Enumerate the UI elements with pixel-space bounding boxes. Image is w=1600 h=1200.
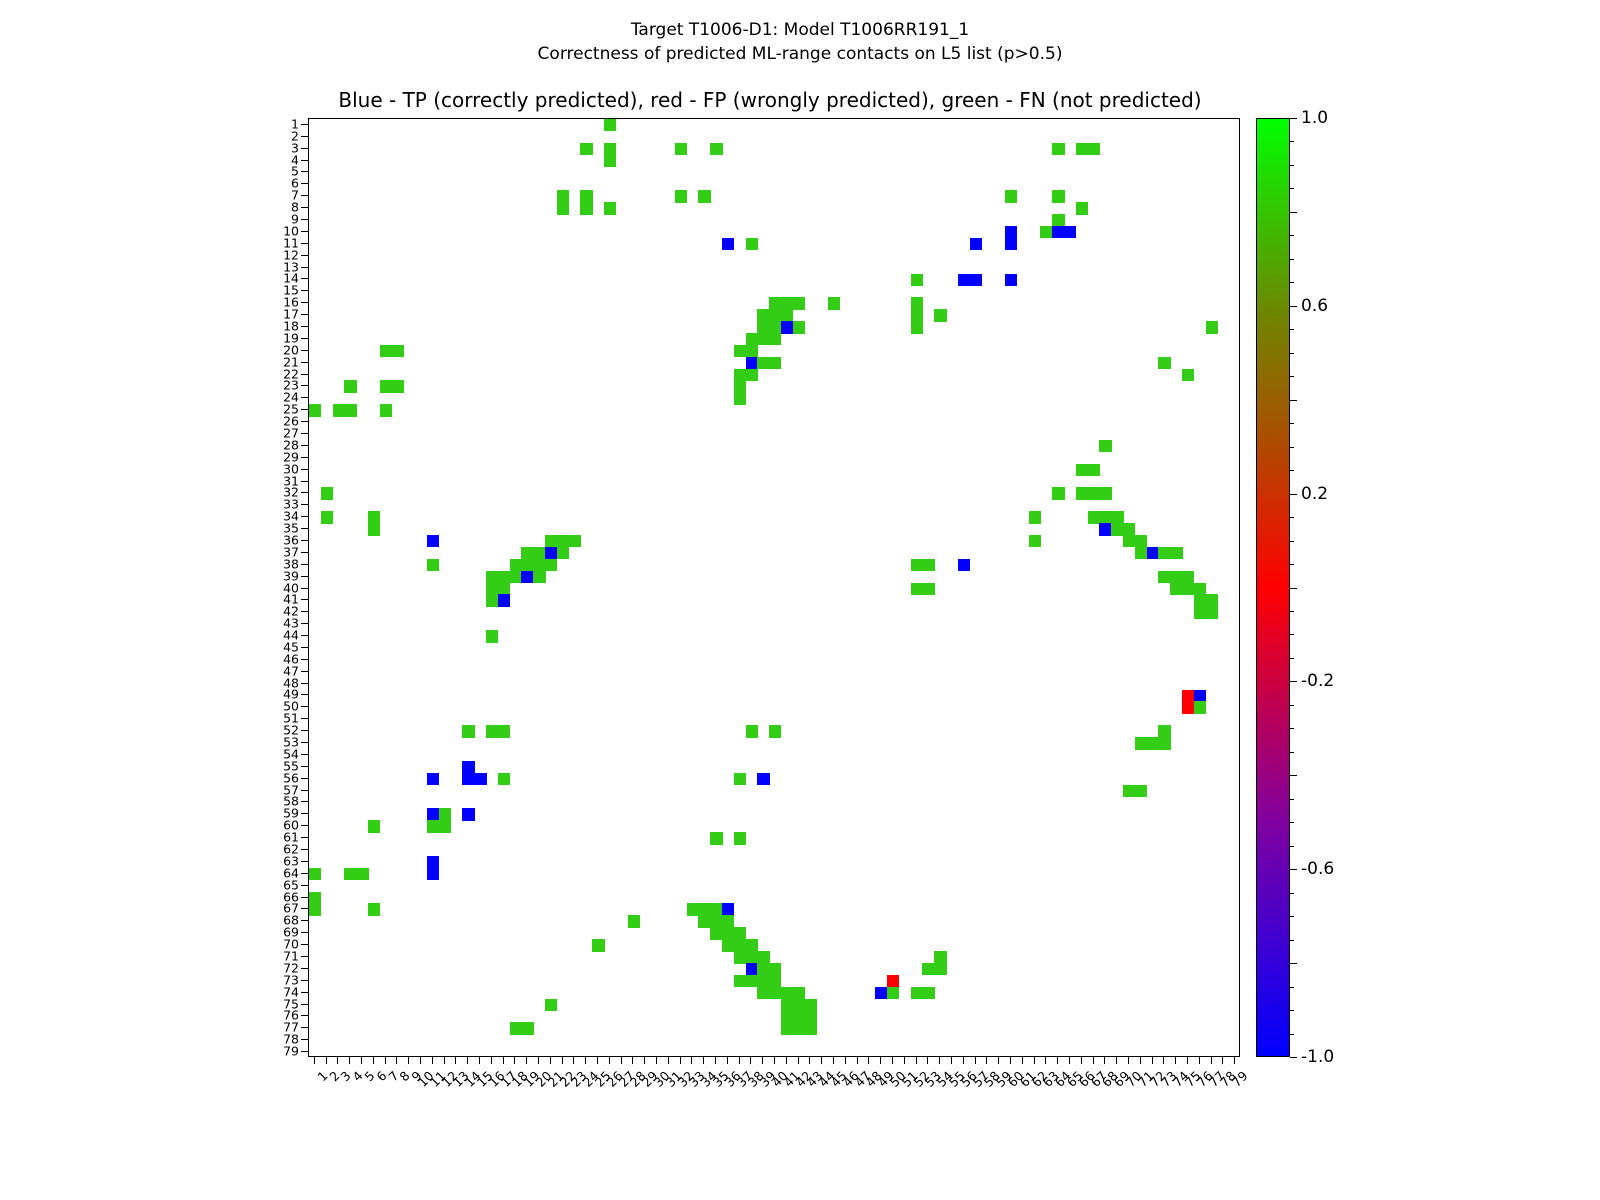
heatmap-cell bbox=[911, 297, 923, 309]
colorbar-tick-label: 0.6 bbox=[1301, 296, 1328, 316]
x-tick bbox=[444, 1057, 445, 1064]
y-tick bbox=[301, 754, 308, 755]
y-tick bbox=[301, 1027, 308, 1028]
heatmap-cell bbox=[781, 321, 793, 333]
colorbar-minor-tick bbox=[1290, 752, 1294, 753]
y-tick bbox=[301, 564, 308, 565]
heatmap-cell bbox=[1088, 487, 1100, 499]
heatmap-cell bbox=[1206, 594, 1218, 606]
heatmap-cell bbox=[1194, 606, 1206, 618]
heatmap-cell bbox=[911, 321, 923, 333]
heatmap-cell bbox=[380, 404, 392, 416]
heatmap-cell bbox=[1040, 226, 1052, 238]
heatmap-cell bbox=[309, 903, 321, 915]
heatmap-cell bbox=[769, 987, 781, 999]
heatmap-cell bbox=[1052, 190, 1064, 202]
heatmap-cell bbox=[1182, 583, 1194, 595]
heatmap-cell bbox=[828, 297, 840, 309]
x-tick bbox=[455, 1057, 456, 1064]
y-tick bbox=[301, 362, 308, 363]
heatmap-cell bbox=[970, 274, 982, 286]
y-tick bbox=[301, 397, 308, 398]
heatmap-cell bbox=[1182, 369, 1194, 381]
heatmap-cell bbox=[580, 143, 592, 155]
heatmap-cell bbox=[1052, 487, 1064, 499]
colorbar-minor-tick bbox=[1290, 611, 1294, 612]
heatmap-cell bbox=[1158, 571, 1170, 583]
heatmap-cell bbox=[887, 975, 899, 987]
y-tick-label: 79 bbox=[283, 1044, 299, 1059]
colorbar-minor-tick bbox=[1290, 1057, 1294, 1058]
x-tick bbox=[868, 1057, 869, 1064]
heatmap-cell bbox=[380, 345, 392, 357]
y-tick bbox=[301, 124, 308, 125]
x-tick bbox=[951, 1057, 952, 1064]
colorbar-tick-label: 1.0 bbox=[1301, 108, 1328, 128]
title-line-1: Target T1006-D1: Model T1006RR191_1 bbox=[0, 18, 1600, 42]
heatmap-cell bbox=[934, 963, 946, 975]
colorbar-minor-tick bbox=[1290, 165, 1294, 166]
y-tick bbox=[301, 849, 308, 850]
colorbar-minor-tick bbox=[1290, 564, 1294, 565]
y-tick bbox=[301, 968, 308, 969]
x-tick bbox=[975, 1057, 976, 1064]
heatmap-cell bbox=[427, 820, 439, 832]
heatmap-cell bbox=[533, 547, 545, 559]
heatmap-cell bbox=[1123, 535, 1135, 547]
x-tick bbox=[857, 1057, 858, 1064]
colorbar: 1.00.60.2-0.2-0.6-1.0 bbox=[1256, 118, 1290, 1057]
heatmap-cell bbox=[757, 321, 769, 333]
heatmap-cell bbox=[1052, 226, 1064, 238]
heatmap-cell bbox=[392, 380, 404, 392]
colorbar-minor-tick bbox=[1290, 423, 1294, 424]
heatmap-cell bbox=[769, 725, 781, 737]
y-tick bbox=[301, 920, 308, 921]
x-tick bbox=[1104, 1057, 1105, 1064]
heatmap-cell bbox=[1064, 226, 1076, 238]
heatmap-cell bbox=[970, 238, 982, 250]
y-tick bbox=[301, 385, 308, 386]
x-tick bbox=[467, 1057, 468, 1064]
heatmap-cell bbox=[569, 535, 581, 547]
heatmap-cell bbox=[675, 190, 687, 202]
x-tick bbox=[691, 1057, 692, 1064]
x-tick bbox=[1093, 1057, 1094, 1064]
heatmap-cell bbox=[1099, 487, 1111, 499]
heatmap-cell bbox=[1182, 690, 1194, 702]
x-tick bbox=[1128, 1057, 1129, 1064]
heatmap-cell bbox=[1206, 606, 1218, 618]
x-tick bbox=[680, 1057, 681, 1064]
heatmap-cell bbox=[911, 559, 923, 571]
heatmap-cell bbox=[769, 975, 781, 987]
x-tick bbox=[562, 1057, 563, 1064]
heatmap-cell bbox=[734, 392, 746, 404]
heatmap-cell bbox=[1099, 511, 1111, 523]
heatmap-cell bbox=[321, 487, 333, 499]
x-tick bbox=[762, 1057, 763, 1064]
heatmap-cell bbox=[545, 547, 557, 559]
heatmap-cell bbox=[486, 725, 498, 737]
y-tick bbox=[301, 374, 308, 375]
x-tick bbox=[739, 1057, 740, 1064]
colorbar-minor-tick bbox=[1290, 775, 1294, 776]
y-tick bbox=[301, 647, 308, 648]
colorbar-minor-tick bbox=[1290, 235, 1294, 236]
x-tick bbox=[845, 1057, 846, 1064]
x-tick bbox=[432, 1057, 433, 1064]
x-tick bbox=[1081, 1057, 1082, 1064]
heatmap-cell bbox=[533, 571, 545, 583]
heatmap-cell bbox=[734, 832, 746, 844]
heatmap-cell bbox=[309, 892, 321, 904]
colorbar-minor-tick bbox=[1290, 212, 1294, 213]
y-tick bbox=[301, 552, 308, 553]
x-tick bbox=[573, 1057, 574, 1064]
x-tick bbox=[491, 1057, 492, 1064]
colorbar-minor-tick bbox=[1290, 517, 1294, 518]
heatmap-cell bbox=[722, 927, 734, 939]
heatmap-cell bbox=[427, 535, 439, 547]
heatmap-cell bbox=[1111, 523, 1123, 535]
heatmap-cell bbox=[1088, 143, 1100, 155]
y-tick bbox=[301, 540, 308, 541]
heatmap-cell bbox=[368, 903, 380, 915]
y-tick bbox=[301, 1051, 308, 1052]
colorbar-minor-tick bbox=[1290, 658, 1294, 659]
heatmap-cell bbox=[1147, 547, 1159, 559]
x-tick bbox=[786, 1057, 787, 1064]
x-tick bbox=[550, 1057, 551, 1064]
heatmap-cell bbox=[1029, 511, 1041, 523]
colorbar-minor-tick bbox=[1290, 400, 1294, 401]
heatmap-cell bbox=[757, 987, 769, 999]
heatmap-cell bbox=[1135, 547, 1147, 559]
x-tick bbox=[644, 1057, 645, 1064]
heatmap-cell bbox=[1182, 701, 1194, 713]
heatmap-cell bbox=[333, 404, 345, 416]
heatmap-cell bbox=[746, 238, 758, 250]
x-tick bbox=[809, 1057, 810, 1064]
colorbar-minor-tick bbox=[1290, 588, 1294, 589]
colorbar-minor-tick bbox=[1290, 118, 1294, 119]
heatmap-cell bbox=[510, 559, 522, 571]
heatmap-cell bbox=[746, 345, 758, 357]
y-tick bbox=[301, 195, 308, 196]
heatmap-cell bbox=[309, 404, 321, 416]
x-tick bbox=[1069, 1057, 1070, 1064]
heatmap-cell bbox=[804, 999, 816, 1011]
heatmap-cell bbox=[922, 583, 934, 595]
heatmap-cell bbox=[769, 321, 781, 333]
y-tick bbox=[301, 445, 308, 446]
y-tick bbox=[301, 718, 308, 719]
x-tick bbox=[939, 1057, 940, 1064]
heatmap-cell bbox=[722, 939, 734, 951]
x-tick bbox=[1222, 1057, 1223, 1064]
x-tick bbox=[420, 1057, 421, 1064]
x-tick bbox=[314, 1057, 315, 1064]
x-tick bbox=[833, 1057, 834, 1064]
y-tick bbox=[301, 885, 308, 886]
y-tick bbox=[301, 219, 308, 220]
heatmap-cell bbox=[368, 511, 380, 523]
x-tick bbox=[503, 1057, 504, 1064]
colorbar-minor-tick bbox=[1290, 728, 1294, 729]
heatmap-cell bbox=[911, 274, 923, 286]
heatmap-cell bbox=[710, 903, 722, 915]
heatmap-cell bbox=[734, 773, 746, 785]
colorbar-tick-label: -0.2 bbox=[1301, 671, 1334, 691]
heatmap-cell bbox=[1005, 238, 1017, 250]
y-tick bbox=[301, 243, 308, 244]
heatmap-cell bbox=[722, 238, 734, 250]
colorbar-minor-tick bbox=[1290, 282, 1294, 283]
heatmap-cell bbox=[1135, 785, 1147, 797]
heatmap-cell bbox=[687, 903, 699, 915]
colorbar-tick-label: -0.6 bbox=[1301, 859, 1334, 879]
y-tick bbox=[301, 908, 308, 909]
heatmap-cell bbox=[746, 357, 758, 369]
y-tick bbox=[301, 766, 308, 767]
heatmap-cell bbox=[757, 963, 769, 975]
heatmap-cell bbox=[757, 951, 769, 963]
y-tick bbox=[301, 873, 308, 874]
colorbar-minor-tick bbox=[1290, 963, 1294, 964]
heatmap-cell bbox=[722, 915, 734, 927]
heatmap-cell bbox=[781, 987, 793, 999]
heatmap-cell bbox=[734, 369, 746, 381]
colorbar-minor-tick bbox=[1290, 188, 1294, 189]
heatmap-cell bbox=[958, 274, 970, 286]
x-tick bbox=[1010, 1057, 1011, 1064]
colorbar-minor-tick bbox=[1290, 799, 1294, 800]
heatmap-cell bbox=[1099, 440, 1111, 452]
heatmap-cell bbox=[698, 915, 710, 927]
heatmap-cell bbox=[1158, 737, 1170, 749]
heatmap-cell bbox=[462, 725, 474, 737]
heatmap-cell bbox=[746, 939, 758, 951]
x-tick bbox=[585, 1057, 586, 1064]
heatmap-cell bbox=[427, 868, 439, 880]
x-tick bbox=[385, 1057, 386, 1064]
x-tick bbox=[1163, 1057, 1164, 1064]
y-tick bbox=[301, 683, 308, 684]
heatmap-cell bbox=[922, 559, 934, 571]
heatmap-cell bbox=[486, 571, 498, 583]
heatmap-cell bbox=[710, 143, 722, 155]
heatmap-cell bbox=[580, 190, 592, 202]
heatmap-cell bbox=[1194, 594, 1206, 606]
y-tick bbox=[301, 528, 308, 529]
colorbar-minor-tick bbox=[1290, 916, 1294, 917]
y-tick bbox=[301, 956, 308, 957]
title-line-2: Correctness of predicted ML-range contac… bbox=[0, 42, 1600, 66]
x-tick bbox=[326, 1057, 327, 1064]
x-tick bbox=[927, 1057, 928, 1064]
heatmap-cell bbox=[1076, 487, 1088, 499]
heatmap-cell bbox=[734, 975, 746, 987]
heatmap-cell bbox=[781, 297, 793, 309]
x-tick bbox=[408, 1057, 409, 1064]
x-tick bbox=[750, 1057, 751, 1064]
x-tick bbox=[373, 1057, 374, 1064]
y-tick bbox=[301, 136, 308, 137]
heatmap-cell bbox=[486, 594, 498, 606]
heatmap-cell bbox=[604, 143, 616, 155]
y-tick bbox=[301, 790, 308, 791]
heatmap-cell bbox=[604, 155, 616, 167]
y-tick bbox=[301, 742, 308, 743]
y-tick bbox=[301, 290, 308, 291]
heatmap-cell bbox=[911, 309, 923, 321]
heatmap-cell bbox=[462, 808, 474, 820]
y-tick bbox=[301, 481, 308, 482]
colorbar-minor-tick bbox=[1290, 141, 1294, 142]
heatmap-cell bbox=[804, 1010, 816, 1022]
heatmap-cell bbox=[498, 571, 510, 583]
colorbar-minor-tick bbox=[1290, 541, 1294, 542]
heatmap-cell bbox=[922, 963, 934, 975]
y-tick bbox=[301, 492, 308, 493]
y-tick bbox=[301, 813, 308, 814]
x-tick bbox=[337, 1057, 338, 1064]
heatmap-cell bbox=[734, 927, 746, 939]
x-tick bbox=[526, 1057, 527, 1064]
heatmap-cell bbox=[368, 523, 380, 535]
heatmap-cell bbox=[321, 511, 333, 523]
heatmap-cell bbox=[557, 202, 569, 214]
y-tick bbox=[301, 457, 308, 458]
heatmap-cell bbox=[462, 761, 474, 773]
heatmap-cell bbox=[604, 119, 616, 131]
heatmap-cell bbox=[958, 559, 970, 571]
heatmap-cell bbox=[675, 143, 687, 155]
heatmap-cell bbox=[392, 345, 404, 357]
heatmap-cell bbox=[1170, 571, 1182, 583]
heatmap-cell bbox=[521, 571, 533, 583]
colorbar-minor-tick bbox=[1290, 869, 1294, 870]
heatmap-cell bbox=[757, 773, 769, 785]
heatmap-cell bbox=[1135, 535, 1147, 547]
x-tick bbox=[986, 1057, 987, 1064]
heatmap-cell bbox=[734, 951, 746, 963]
heatmap-cell bbox=[474, 773, 486, 785]
plot-frame bbox=[308, 118, 1240, 1057]
y-tick bbox=[301, 516, 308, 517]
colorbar-minor-tick bbox=[1290, 376, 1294, 377]
y-tick bbox=[301, 861, 308, 862]
x-tick bbox=[609, 1057, 610, 1064]
heatmap-cell bbox=[710, 915, 722, 927]
chart-title-block: Target T1006-D1: Model T1006RR191_1 Corr… bbox=[0, 18, 1600, 66]
heatmap-cell bbox=[804, 1022, 816, 1034]
heatmap-cell bbox=[781, 1022, 793, 1034]
colorbar-minor-tick bbox=[1290, 846, 1294, 847]
y-tick bbox=[301, 944, 308, 945]
y-tick bbox=[301, 409, 308, 410]
heatmap-cell bbox=[769, 963, 781, 975]
heatmap-cell bbox=[1147, 737, 1159, 749]
heatmap-cell bbox=[521, 1022, 533, 1034]
x-tick bbox=[1175, 1057, 1176, 1064]
x-tick bbox=[880, 1057, 881, 1064]
x-tick bbox=[1057, 1057, 1058, 1064]
heatmap-cell bbox=[1158, 357, 1170, 369]
heatmap-cell bbox=[734, 939, 746, 951]
heatmap-cell bbox=[1005, 226, 1017, 238]
x-tick bbox=[396, 1057, 397, 1064]
x-tick bbox=[904, 1057, 905, 1064]
heatmap-cell bbox=[781, 999, 793, 1011]
colorbar-minor-tick bbox=[1290, 259, 1294, 260]
heatmap-cell bbox=[769, 309, 781, 321]
colorbar-minor-tick bbox=[1290, 306, 1294, 307]
x-tick bbox=[715, 1057, 716, 1064]
y-tick bbox=[301, 611, 308, 612]
y-tick bbox=[301, 671, 308, 672]
y-tick bbox=[301, 730, 308, 731]
heatmap-cell bbox=[1158, 725, 1170, 737]
x-tick bbox=[668, 1057, 669, 1064]
heatmap-cell bbox=[1123, 785, 1135, 797]
heatmap-cell bbox=[769, 333, 781, 345]
heatmap-cell bbox=[769, 297, 781, 309]
heatmap-cell bbox=[557, 190, 569, 202]
colorbar-minor-tick bbox=[1290, 681, 1294, 682]
heatmap-cell bbox=[498, 594, 510, 606]
heatmap-cell bbox=[793, 1022, 805, 1034]
heatmap-cell bbox=[1088, 464, 1100, 476]
heatmap-cell bbox=[592, 939, 604, 951]
heatmap-cell bbox=[746, 975, 758, 987]
heatmap-cell bbox=[1170, 583, 1182, 595]
heatmap-cell bbox=[1194, 690, 1206, 702]
heatmap-cell bbox=[486, 583, 498, 595]
colorbar-minor-tick bbox=[1290, 705, 1294, 706]
y-tick bbox=[301, 314, 308, 315]
y-tick bbox=[301, 469, 308, 470]
heatmap-cell bbox=[734, 380, 746, 392]
heatmap-cell bbox=[1123, 523, 1135, 535]
y-tick bbox=[301, 1039, 308, 1040]
heatmap-cell bbox=[521, 547, 533, 559]
y-tick bbox=[301, 932, 308, 933]
heatmap-cell bbox=[439, 820, 451, 832]
heatmap-cell bbox=[746, 333, 758, 345]
x-tick bbox=[1045, 1057, 1046, 1064]
y-tick bbox=[301, 801, 308, 802]
heatmap-cell bbox=[875, 987, 887, 999]
x-tick bbox=[1034, 1057, 1035, 1064]
heatmap-cell bbox=[462, 773, 474, 785]
y-tick bbox=[301, 255, 308, 256]
colorbar-minor-tick bbox=[1290, 940, 1294, 941]
x-tick bbox=[597, 1057, 598, 1064]
colorbar-gradient bbox=[1256, 118, 1290, 1057]
y-tick bbox=[301, 278, 308, 279]
x-tick bbox=[1211, 1057, 1212, 1064]
heatmap-cell bbox=[439, 808, 451, 820]
y-tick bbox=[301, 623, 308, 624]
y-tick bbox=[301, 207, 308, 208]
heatmap-cell bbox=[557, 547, 569, 559]
heatmap-cell bbox=[545, 999, 557, 1011]
y-tick bbox=[301, 635, 308, 636]
heatmap-cell bbox=[793, 999, 805, 1011]
heatmap-cell bbox=[344, 868, 356, 880]
